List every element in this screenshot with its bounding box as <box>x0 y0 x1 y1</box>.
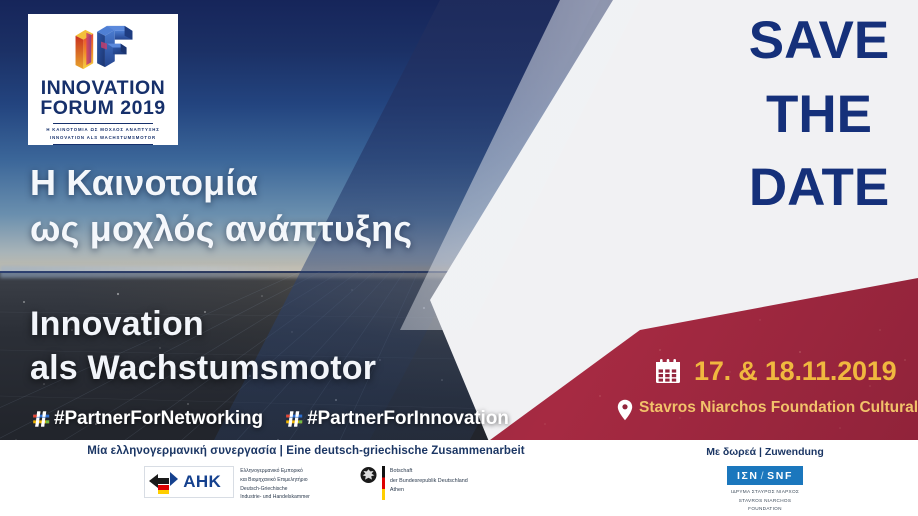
ahk-logo: AHK Ελληνογερμανικό Εμπορικό και Βιομηχα… <box>144 466 310 502</box>
hashtag-partner-for-innovation[interactable]: #PartnerForInnovation <box>285 408 509 430</box>
event-venue-row: Stavros Niarchos Foundation Cultural Cen… <box>617 398 918 439</box>
snf-line-2: STAVROS NIARCHOS <box>731 497 799 506</box>
footer-donation-section: Με δωρεά | Zuwendung ΙΣΝ / SNF ΙΔΡΥΜΑ ΣΤ… <box>612 440 918 516</box>
hash-icon <box>32 409 52 429</box>
hashtag-label: #PartnerForInnovation <box>307 408 509 430</box>
headline-german-line-1: Innovation <box>30 302 376 346</box>
footer-bar: Μία ελληνογερμανική συνεργασία | Eine de… <box>0 440 918 516</box>
german-embassy-logo: Botschaft der Bundesrepublik Deutschland… <box>360 466 468 500</box>
embassy-line-2: der Bundesrepublik Deutschland <box>390 477 468 487</box>
partner-logo-row: AHK Ελληνογερμανικό Εμπορικό και Βιομηχα… <box>0 466 612 502</box>
federal-eagle-icon <box>360 466 377 485</box>
if-cube-logo-icon <box>67 22 139 75</box>
ahk-arrow-icon <box>145 468 181 496</box>
snf-description: ΙΔΡΥΜΑ ΣΤΑΥΡΟΣ ΝΙΑΡΧΟΣ STAVROS NIARCHOS … <box>731 488 799 514</box>
logo-tagline-german: INNOVATION ALS WACHSTUMSMOTOR <box>50 134 156 142</box>
save-the-date-word-date: DATE <box>733 163 905 213</box>
ahk-line-3: Deutsch-Griechische <box>240 485 310 494</box>
footer-cooperation-section: Μία ελληνογερμανική συνεργασία | Eine de… <box>0 440 612 516</box>
event-date: 17. & 18.11.2019 <box>694 356 896 387</box>
save-the-date-word-save: SAVE <box>733 16 905 66</box>
ahk-line-4: Industrie- und Handelskammer <box>240 493 310 502</box>
logo-divider-bottom <box>53 144 153 145</box>
ahk-letters: AHK <box>181 472 221 492</box>
embassy-line-1: Botschaft <box>390 467 468 477</box>
headline-german-line-2: als Wachstumsmotor <box>30 346 376 390</box>
venue-city: Athens <box>639 418 918 438</box>
donation-title: Με δωρεά | Zuwendung <box>612 440 918 458</box>
embassy-description: Botschaft der Bundesrepublik Deutschland… <box>390 466 468 496</box>
event-venue: Stavros Niarchos Foundation Cultural Cen… <box>639 398 918 439</box>
headline-german: Innovation als Wachstumsmotor <box>30 302 376 390</box>
snf-badge: ΙΣΝ / SNF <box>727 466 803 485</box>
save-the-date-block: SAVE THE DATE <box>733 16 905 213</box>
cooperation-title: Μία ελληνογερμανική συνεργασία | Eine de… <box>0 440 612 457</box>
snf-line-1: ΙΔΡΥΜΑ ΣΤΑΥΡΟΣ ΝΙΑΡΧΟΣ <box>731 488 799 497</box>
hashtag-label: #PartnerForNetworking <box>54 408 263 430</box>
logo-divider-top <box>53 123 153 124</box>
venue-name: Stavros Niarchos Foundation Cultural Cen… <box>639 399 918 416</box>
snf-badge-right: SNF <box>767 470 793 482</box>
ahk-badge: AHK <box>144 466 234 498</box>
snf-badge-left: ΙΣΝ <box>737 470 759 482</box>
logo-tagline-greek: Η ΚΑΙΝΟΤΟΜΙΑ ΩΣ ΜΟΧΛΟΣ ΑΝΑΠΤΥΞΗΣ <box>46 126 159 134</box>
innovation-forum-logo-card: INNOVATION FORUM 2019 Η ΚΑΙΝΟΤΟΜΙΑ ΩΣ ΜΟ… <box>28 14 178 145</box>
headline-greek-line-2: ως μοχλός ανάπτυξης <box>30 206 412 252</box>
calendar-icon <box>653 357 683 387</box>
ahk-description: Ελληνογερμανικό Εμπορικό και Βιομηχανικό… <box>240 466 310 502</box>
logo-wordmark: INNOVATION FORUM 2019 <box>40 79 165 119</box>
ahk-line-2: και Βιομηχανικό Επιμελητήριο <box>240 476 310 485</box>
event-poster: INNOVATION FORUM 2019 Η ΚΑΙΝΟΤΟΜΙΑ ΩΣ ΜΟ… <box>0 0 918 516</box>
event-date-row: 17. & 18.11.2019 <box>653 356 896 387</box>
embassy-line-3: Athen <box>390 486 468 496</box>
hashtag-partner-for-networking[interactable]: #PartnerForNetworking <box>32 408 263 430</box>
snf-line-3: FOUNDATION <box>731 505 799 514</box>
headline-greek: Η Καινοτομία ως μοχλός ανάπτυξης <box>30 160 412 252</box>
hashtag-row: #PartnerForNetworking #PartnerForInnovat… <box>32 408 509 430</box>
save-the-date-word-the: THE <box>733 90 905 140</box>
snf-logo: ΙΣΝ / SNF ΙΔΡΥΜΑ ΣΤΑΥΡΟΣ ΝΙΑΡΧΟΣ STAVROS… <box>612 466 918 514</box>
logo-line-1: INNOVATION <box>40 79 165 99</box>
ahk-line-1: Ελληνογερμανικό Εμπορικό <box>240 467 310 476</box>
map-pin-icon <box>617 399 633 421</box>
snf-badge-separator: / <box>761 470 766 482</box>
headline-greek-line-1: Η Καινοτομία <box>30 160 412 206</box>
german-flag-bar <box>382 466 385 500</box>
hash-icon <box>285 409 305 429</box>
logo-line-2: FORUM 2019 <box>40 99 165 119</box>
